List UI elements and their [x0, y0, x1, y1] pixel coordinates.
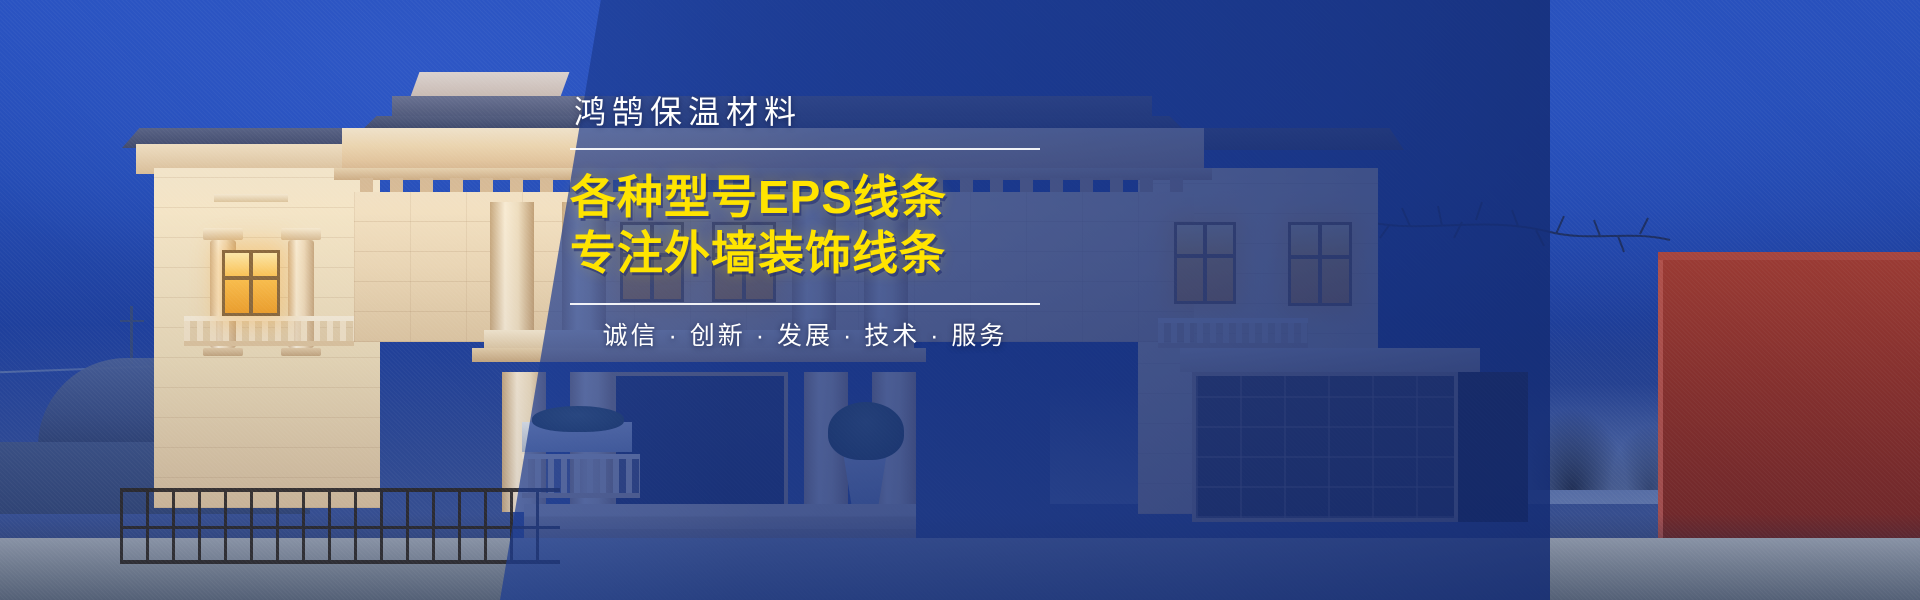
- window-mullion-vertical: [1318, 225, 1322, 303]
- garage-lintel: [1180, 348, 1480, 372]
- headline: 各种型号EPS线条 专注外墙装饰线条: [570, 169, 1040, 281]
- lit-window: [1288, 222, 1352, 306]
- divider-rule-top: [570, 148, 1040, 150]
- window-mullion-horizontal: [225, 276, 277, 280]
- window-mullion-horizontal: [1291, 255, 1349, 259]
- garage-door: [1192, 372, 1458, 522]
- headline-line-2: 专注外墙装饰线条: [570, 225, 1040, 281]
- window-mullion-vertical: [1203, 225, 1207, 301]
- window-mullion-horizontal: [1177, 254, 1233, 258]
- divider-rule-bottom: [570, 303, 1040, 305]
- lit-window: [1174, 222, 1236, 304]
- right-balustrade: [1158, 318, 1308, 348]
- entry-door: [612, 372, 788, 522]
- iron-railing: [120, 488, 560, 564]
- tagline: 诚信 · 创新 · 发展 · 技术 · 服务: [570, 324, 1040, 349]
- divider-rule-bottom-wrap: [570, 303, 1040, 305]
- headline-line-1: 各种型号EPS线条: [570, 169, 1040, 225]
- red-wall: [1658, 254, 1920, 554]
- banner-copy-block: 鸿鹄保温材料 各种型号EPS线条 专注外墙装饰线条 诚信 · 创新 · 发展 ·…: [570, 96, 1040, 349]
- garage-side-opening: [1458, 372, 1528, 522]
- window-lintel: [214, 194, 288, 202]
- portico-column: [490, 202, 534, 338]
- brand-name: 鸿鹄保温材料: [570, 96, 1040, 128]
- red-wall-coping: [1658, 252, 1920, 260]
- portico-slab: [472, 348, 926, 362]
- potted-shrub: [828, 402, 904, 460]
- balcony-balustrade: [184, 316, 354, 346]
- planter-greenery: [532, 406, 624, 432]
- promo-banner: 鸿鹄保温材料 各种型号EPS线条 专注外墙装饰线条 诚信 · 创新 · 发展 ·…: [0, 0, 1920, 600]
- lit-window: [222, 250, 280, 316]
- window-mullion-vertical: [249, 253, 253, 313]
